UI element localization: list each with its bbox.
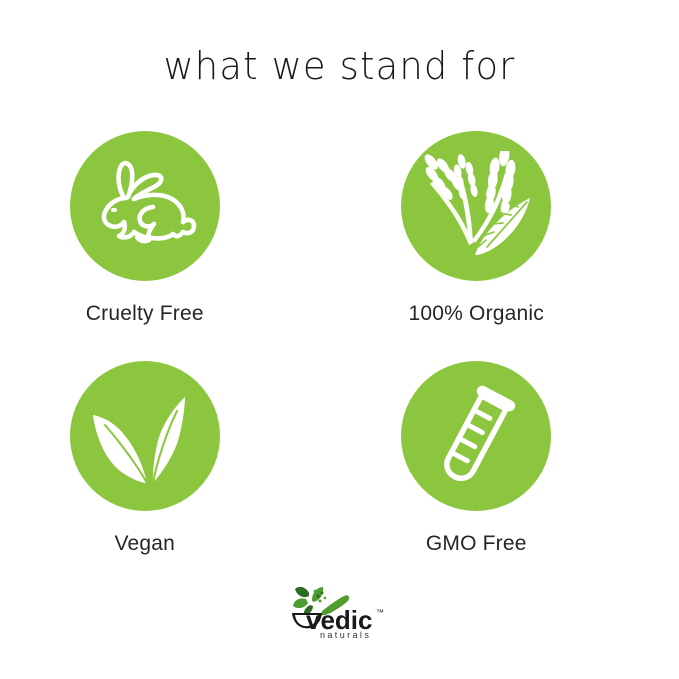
badge-label: 100% Organic <box>409 302 544 326</box>
page-title: what we stand for <box>10 44 669 90</box>
badge-vegan: Vegan <box>12 361 277 591</box>
brand-logo: vedic ™ naturals <box>0 583 679 644</box>
badge-organic: 100% Organic <box>344 131 609 361</box>
wheat-feather-icon <box>417 151 535 261</box>
leaves-icon <box>89 383 201 489</box>
test-tube-icon <box>424 382 528 490</box>
badge-circle <box>70 131 220 281</box>
badge-circle <box>401 131 551 281</box>
rabbit-icon <box>90 156 200 256</box>
badge-label: Vegan <box>114 532 175 556</box>
badge-gmo-free: GMO Free <box>344 361 609 591</box>
badge-label: Cruelty Free <box>86 302 204 326</box>
badge-label: GMO Free <box>426 532 527 556</box>
logo-tagline: naturals <box>320 630 371 639</box>
badge-cruelty-free: Cruelty Free <box>12 131 277 361</box>
vedic-naturals-logo: vedic ™ naturals <box>276 583 404 644</box>
badge-circle <box>70 361 220 511</box>
promo-graphic: what we stand for <box>0 0 679 679</box>
badge-circle <box>401 361 551 511</box>
logo-trademark: ™ <box>376 608 384 617</box>
badge-grid: Cruelty Free <box>0 131 679 591</box>
